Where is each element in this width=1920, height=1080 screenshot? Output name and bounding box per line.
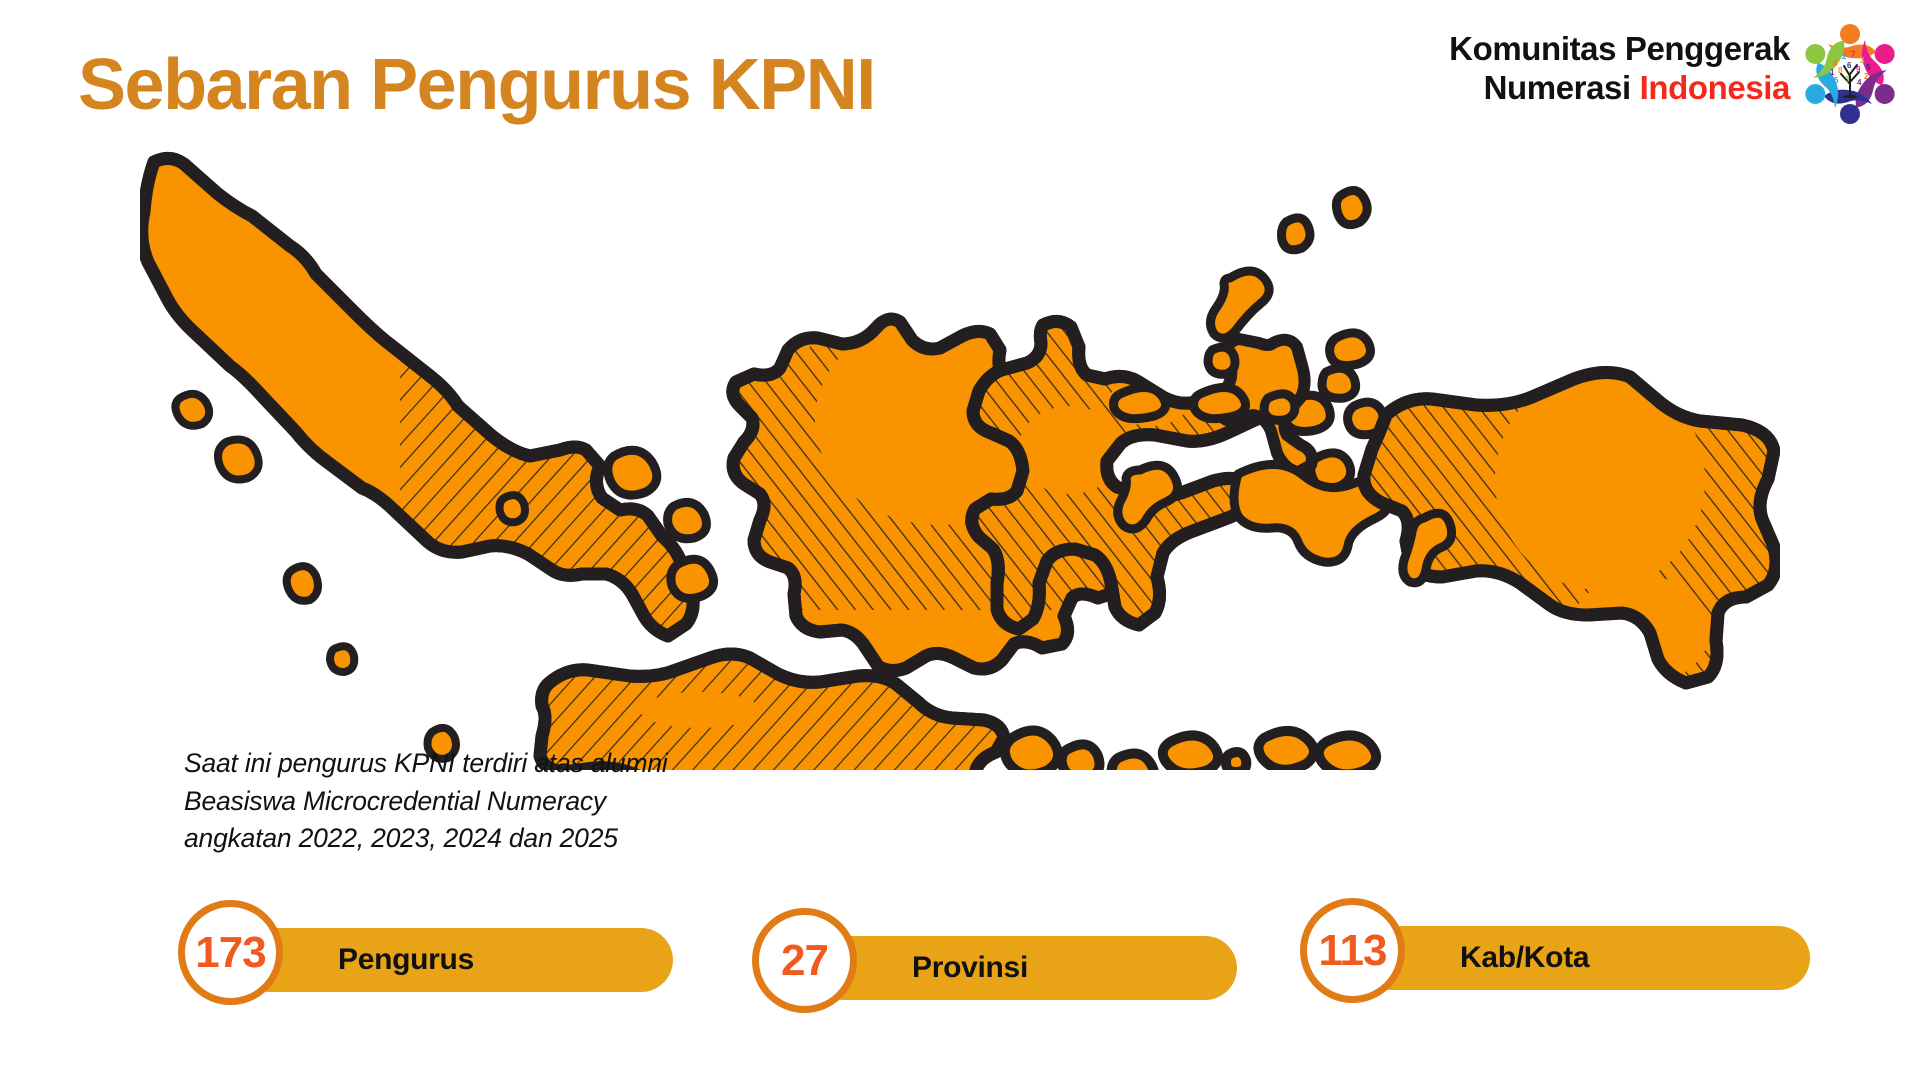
stat-number: 173 xyxy=(195,931,265,975)
nusa-tenggara-chain xyxy=(1005,730,1376,770)
svg-text:4: 4 xyxy=(1857,78,1862,87)
stat-label: Kab/Kota xyxy=(1460,941,1589,975)
svg-text:3: 3 xyxy=(1845,75,1850,84)
indonesia-map xyxy=(140,150,1780,770)
brand-line-2-plain: Numerasi xyxy=(1484,69,1640,106)
brand-line-1: Komunitas Penggerak xyxy=(1449,30,1790,69)
brand-lockup: Komunitas Penggerak Numerasi Indonesia xyxy=(1449,30,1790,108)
stat-pill: Kab/Kota xyxy=(1360,926,1810,990)
caption-line-1: Saat ini pengurus KPNI terdiri atas alum… xyxy=(184,745,668,783)
karimata-islet xyxy=(671,559,714,598)
caption-line-3: angkatan 2022, 2023, 2024 dan 2025 xyxy=(184,820,668,858)
svg-text:9: 9 xyxy=(1856,65,1861,74)
caption-line-2: Beasiswa Microcredential Numeracy xyxy=(184,783,668,821)
svg-text:6: 6 xyxy=(1847,61,1852,70)
kpni-tree-people-logo-icon: 4 2 7 3 5 1 8 6 9 2 5 3 4 xyxy=(1790,14,1910,132)
page-title: Sebaran Pengurus KPNI xyxy=(78,48,875,124)
svg-text:5: 5 xyxy=(1834,76,1839,85)
brand-line-2-accent: Indonesia xyxy=(1640,69,1790,106)
stat-pill: Pengurus xyxy=(238,928,673,992)
svg-text:2: 2 xyxy=(1842,52,1847,61)
stat-number: 27 xyxy=(781,939,828,983)
caption-text: Saat ini pengurus KPNI terdiri atas alum… xyxy=(184,745,668,858)
stat-circle: 27 xyxy=(752,908,857,1013)
stat-circle: 173 xyxy=(178,900,283,1005)
svg-text:3: 3 xyxy=(1860,56,1865,65)
stat-label: Provinsi xyxy=(912,951,1028,985)
stat-pill: Provinsi xyxy=(812,936,1237,1000)
brand-line-2: Numerasi Indonesia xyxy=(1449,69,1790,108)
stat-number: 113 xyxy=(1319,929,1387,973)
svg-text:8: 8 xyxy=(1838,66,1843,75)
svg-text:2: 2 xyxy=(1864,72,1869,81)
stat-circle: 113 xyxy=(1300,898,1405,1003)
stat-label: Pengurus xyxy=(338,943,474,977)
svg-text:5: 5 xyxy=(1866,63,1871,72)
svg-text:7: 7 xyxy=(1851,50,1856,59)
